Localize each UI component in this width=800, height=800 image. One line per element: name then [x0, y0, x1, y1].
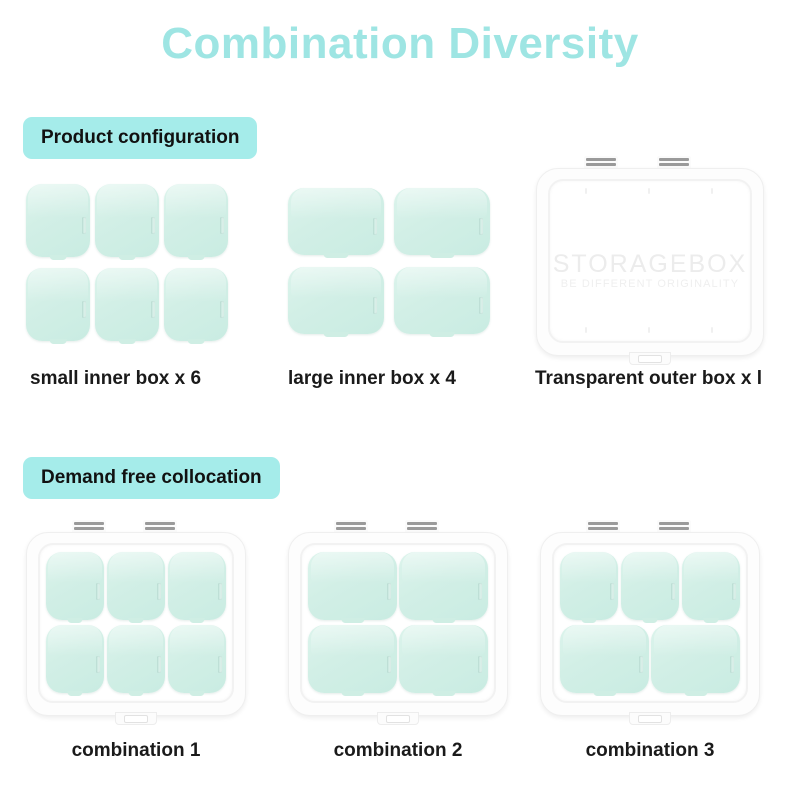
box-bottom-lip	[430, 253, 455, 258]
caption-combination-1: combination 1	[72, 740, 201, 762]
caption-combination-2: combination 2	[334, 740, 463, 762]
box-lid-seam	[311, 625, 395, 656]
box-bottom-lip	[188, 255, 205, 260]
small-inner-box[interactable]	[164, 268, 228, 341]
small-inner-box[interactable]	[46, 552, 104, 620]
box-lid-seam	[397, 267, 487, 298]
box-grip-icon	[82, 301, 86, 318]
caption-combination-3: combination 3	[586, 740, 715, 762]
box-grip-icon	[218, 656, 222, 673]
box-lid-seam	[48, 625, 103, 656]
box-bottom-lip	[119, 255, 136, 260]
case-latch[interactable]	[629, 712, 671, 725]
box-lid-seam	[623, 552, 678, 583]
box-lid-seam	[109, 625, 164, 656]
section-badge-demand-free-collocation: Demand free collocation	[23, 457, 280, 499]
case-well	[555, 186, 745, 335]
box-lid-seam	[97, 184, 157, 218]
large-inner-box[interactable]	[288, 267, 384, 334]
box-bottom-lip	[341, 691, 364, 696]
case-rib	[711, 327, 713, 333]
box-lid-seam	[402, 625, 486, 656]
box-grip-icon	[220, 217, 224, 234]
box-bottom-lip	[67, 691, 82, 696]
box-grip-icon	[478, 656, 482, 673]
page-title: Combination Diversity	[0, 22, 800, 66]
case-rib	[711, 188, 713, 194]
box-bottom-lip	[341, 618, 364, 623]
combination-1-case[interactable]	[26, 532, 246, 716]
large-inner-box[interactable]	[394, 267, 490, 334]
caption-small-inner-box: small inner box x 6	[30, 368, 201, 390]
box-grip-icon	[387, 583, 391, 600]
large-inner-box[interactable]	[394, 188, 490, 255]
box-lid-seam	[170, 625, 225, 656]
box-bottom-lip	[593, 691, 616, 696]
caption-transparent-outer-box: Transparent outer box x l	[535, 368, 762, 390]
large-inner-box[interactable]	[288, 188, 384, 255]
case-well	[307, 550, 489, 695]
box-grip-icon	[479, 297, 483, 314]
box-bottom-lip	[67, 618, 82, 623]
small-inner-box[interactable]	[168, 552, 226, 620]
small-inner-box[interactable]	[164, 184, 228, 257]
case-rib	[585, 188, 587, 194]
box-grip-icon	[387, 656, 391, 673]
box-lid-seam	[166, 184, 226, 218]
box-lid-seam	[166, 268, 226, 302]
box-bottom-lip	[432, 691, 455, 696]
box-bottom-lip	[432, 618, 455, 623]
box-lid-seam	[170, 552, 225, 583]
case-rib	[648, 188, 650, 194]
box-grip-icon	[373, 218, 377, 235]
box-lid-seam	[97, 268, 157, 302]
box-grip-icon	[151, 301, 155, 318]
small-inner-box[interactable]	[560, 552, 618, 620]
small-inner-box[interactable]	[95, 268, 159, 341]
box-bottom-lip	[684, 691, 707, 696]
small-inner-box[interactable]	[682, 552, 740, 620]
box-grip-icon	[478, 583, 482, 600]
box-grip-icon	[479, 218, 483, 235]
large-inner-box[interactable]	[651, 625, 740, 693]
box-grip-icon	[220, 301, 224, 318]
large-inner-box[interactable]	[560, 625, 649, 693]
box-grip-icon	[151, 217, 155, 234]
box-lid-seam	[311, 552, 395, 583]
box-lid-seam	[48, 552, 103, 583]
box-bottom-lip	[128, 618, 143, 623]
box-bottom-lip	[430, 332, 455, 337]
box-grip-icon	[157, 583, 161, 600]
box-bottom-lip	[189, 618, 204, 623]
small-inner-box[interactable]	[26, 184, 90, 257]
box-lid-seam	[291, 188, 381, 219]
box-lid-seam	[397, 188, 487, 219]
box-bottom-lip	[642, 618, 657, 623]
small-inner-box[interactable]	[46, 625, 104, 693]
box-bottom-lip	[128, 691, 143, 696]
small-inner-box[interactable]	[107, 625, 165, 693]
box-grip-icon	[96, 656, 100, 673]
box-bottom-lip	[189, 691, 204, 696]
box-grip-icon	[671, 583, 675, 600]
case-latch[interactable]	[115, 712, 157, 725]
box-lid-seam	[402, 552, 486, 583]
box-lid-seam	[563, 625, 647, 656]
box-lid-seam	[291, 267, 381, 298]
box-grip-icon	[610, 583, 614, 600]
large-inner-box[interactable]	[308, 552, 397, 620]
caption-large-inner-box: large inner box x 4	[288, 368, 456, 390]
box-bottom-lip	[703, 618, 718, 623]
box-lid-seam	[654, 625, 738, 656]
box-grip-icon	[96, 583, 100, 600]
small-inner-box[interactable]	[26, 268, 90, 341]
case-latch[interactable]	[629, 352, 671, 365]
case-well	[45, 550, 227, 695]
box-bottom-lip	[119, 339, 136, 344]
combination-3-case[interactable]	[540, 532, 760, 716]
box-grip-icon	[639, 656, 643, 673]
small-inner-box[interactable]	[95, 184, 159, 257]
small-inner-box[interactable]	[107, 552, 165, 620]
box-bottom-lip	[50, 339, 67, 344]
box-grip-icon	[373, 297, 377, 314]
box-grip-icon	[730, 656, 734, 673]
box-grip-icon	[157, 656, 161, 673]
case-well	[559, 550, 741, 695]
box-grip-icon	[218, 583, 222, 600]
case-rib	[648, 327, 650, 333]
small-inner-box[interactable]	[621, 552, 679, 620]
box-bottom-lip	[188, 339, 205, 344]
box-bottom-lip	[50, 255, 67, 260]
large-inner-box[interactable]	[399, 552, 488, 620]
large-inner-box[interactable]	[308, 625, 397, 693]
case-latch[interactable]	[377, 712, 419, 725]
box-bottom-lip	[324, 253, 349, 258]
box-grip-icon	[82, 217, 86, 234]
small-inner-box[interactable]	[168, 625, 226, 693]
section-badge-label: Product configuration	[41, 127, 239, 149]
combination-2-case[interactable]	[288, 532, 508, 716]
box-grip-icon	[732, 583, 736, 600]
box-bottom-lip	[581, 618, 596, 623]
box-lid-seam	[684, 552, 739, 583]
transparent-outer-box[interactable]: STORAGEBOX BE DIFFERENT ORIGINALITY	[536, 168, 764, 356]
case-rib	[585, 327, 587, 333]
section-badge-product-configuration: Product configuration	[23, 117, 257, 159]
large-inner-box[interactable]	[399, 625, 488, 693]
box-lid-seam	[28, 268, 88, 302]
section-badge-label: Demand free collocation	[41, 467, 262, 489]
box-lid-seam	[562, 552, 617, 583]
box-bottom-lip	[324, 332, 349, 337]
box-lid-seam	[28, 184, 88, 218]
box-lid-seam	[109, 552, 164, 583]
